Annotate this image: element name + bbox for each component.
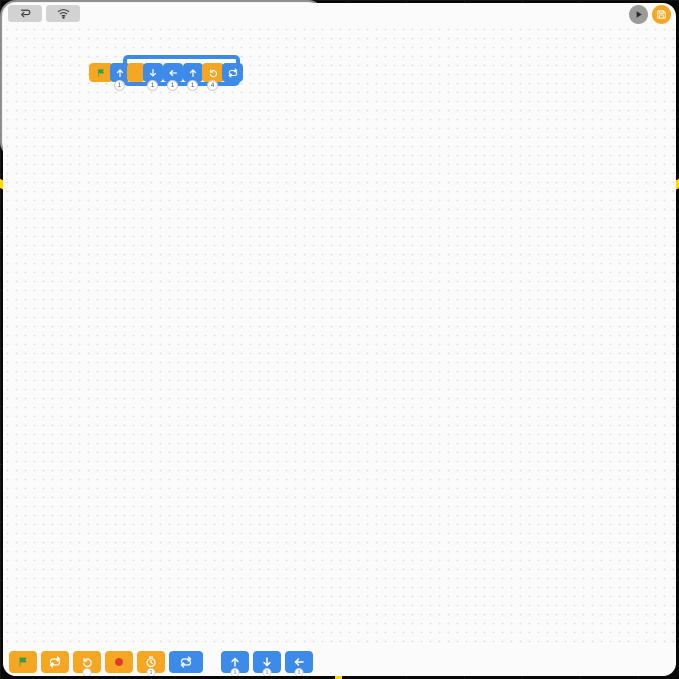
palette-value[interactable]: 1: [295, 668, 304, 676]
palette-value[interactable]: 1: [231, 668, 240, 676]
palette-move-down-block[interactable]: 1: [253, 651, 281, 673]
rotate-block[interactable]: 4: [202, 63, 224, 82]
step-value[interactable]: 1: [187, 80, 198, 91]
arrow-down-icon: [261, 656, 273, 668]
rotate-value[interactable]: 4: [207, 80, 218, 91]
palette-blue-loop-block[interactable]: [169, 651, 203, 673]
save-button[interactable]: [652, 5, 671, 24]
step-value[interactable]: 1: [147, 80, 158, 91]
palette-value[interactable]: 1: [263, 668, 272, 676]
move-up-block-2[interactable]: 1: [183, 63, 203, 82]
arrow-up-icon: [115, 68, 125, 78]
loop-icon: [49, 656, 61, 668]
move-down-block[interactable]: 1: [143, 63, 163, 82]
arrow-left-icon: [293, 656, 305, 668]
arrow-up-icon: [188, 68, 198, 78]
rotate-ccw-icon: [81, 656, 93, 668]
palette-timer-block[interactable]: 1: [137, 651, 165, 673]
programming-screen: 1 1 1: [3, 3, 676, 676]
programming-toolbar: [3, 3, 676, 25]
palette-stop-block[interactable]: [105, 651, 133, 673]
palette-loop-block[interactable]: [41, 651, 69, 673]
palette-value[interactable]: [83, 668, 92, 676]
palette-move-left-block[interactable]: 1: [285, 651, 313, 673]
wifi-icon[interactable]: [46, 5, 80, 22]
rotate-ccw-icon: [208, 68, 218, 78]
flag-icon: [96, 68, 106, 78]
stop-icon: [115, 658, 123, 666]
repeat-block[interactable]: [222, 63, 243, 82]
block-palette[interactable]: 1 1 1 1: [3, 648, 676, 676]
palette-move-up-block[interactable]: 1: [221, 651, 249, 673]
step-value[interactable]: 1: [167, 80, 178, 91]
step-value[interactable]: 1: [114, 80, 125, 91]
timer-icon: [145, 656, 157, 668]
palette-value[interactable]: 1: [147, 668, 156, 676]
arrow-up-icon: [229, 656, 241, 668]
loop-icon: [228, 68, 238, 78]
arrow-down-icon: [148, 68, 158, 78]
move-left-block[interactable]: 1: [163, 63, 183, 82]
flag-icon: [17, 656, 29, 668]
loop-icon: [180, 656, 192, 668]
arrow-left-icon: [168, 68, 178, 78]
programming-device: 1 1 1: [0, 0, 324, 158]
poster-canvas: Gravity Induction Mobile gravity sensor …: [0, 0, 679, 679]
block-canvas[interactable]: [3, 25, 676, 648]
back-icon[interactable]: [8, 5, 42, 22]
run-button[interactable]: [629, 5, 648, 24]
palette-flag-block[interactable]: [9, 651, 37, 673]
palette-rotate-block[interactable]: [73, 651, 101, 673]
